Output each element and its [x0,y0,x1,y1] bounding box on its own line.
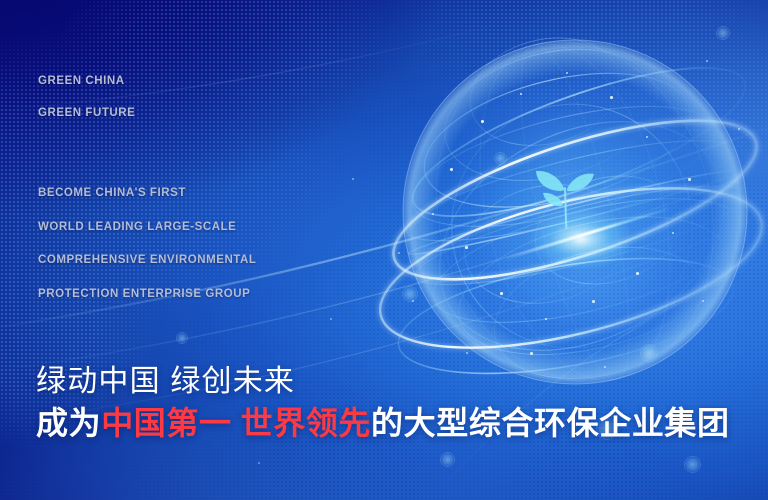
headline-prefix: 成为 [36,405,101,441]
tagline-line: GREEN CHINA [38,76,135,88]
tagline-line: GREEN FUTURE [38,108,135,120]
tagline-english-top: GREEN CHINA GREEN FUTURE [38,76,135,119]
sprout-leaf-icon [530,160,600,240]
headline-highlight-first: 中国第一 [101,405,231,441]
banner-hero: GREEN CHINA GREEN FUTURE BECOME CHINA'S … [0,0,768,500]
tagline-english-main: BECOME CHINA'S FIRST WORLD LEADING LARGE… [38,188,256,300]
tagline-line: WORLD LEADING LARGE-SCALE [38,222,256,234]
tagline-line: PROTECTION ENTERPRISE GROUP [38,289,256,301]
headline-line-2: 成为中国第一世界领先的大型综合环保企业集团 [36,407,730,441]
headline-line-1: 绿动中国 绿创未来 [36,366,730,398]
headline-highlight-second: 世界领先 [241,405,371,441]
headline-chinese: 绿动中国 绿创未来 成为中国第一世界领先的大型综合环保企业集团 [36,366,730,441]
tagline-line: BECOME CHINA'S FIRST [38,188,256,200]
tagline-line: COMPREHENSIVE ENVIRONMENTAL [38,255,256,267]
headline-suffix: 的大型综合环保企业集团 [371,405,730,441]
